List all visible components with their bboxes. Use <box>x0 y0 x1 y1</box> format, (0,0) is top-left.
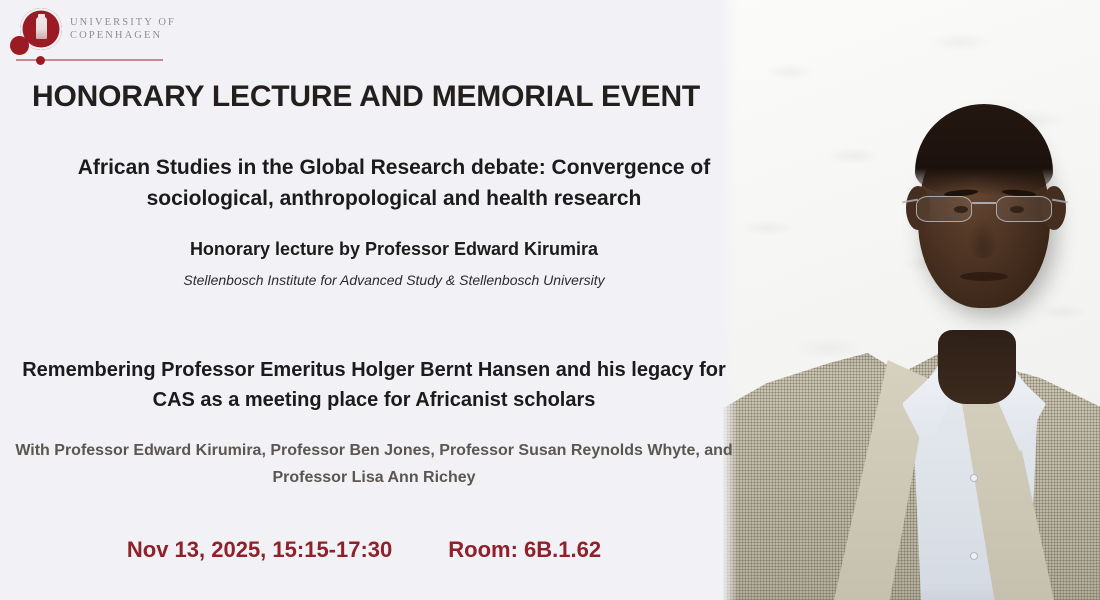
neck <box>938 330 1016 404</box>
poster-content: HONORARY LECTURE AND MEMORIAL EVENT Afri… <box>0 0 722 600</box>
glasses-temple-right <box>1052 199 1068 203</box>
eyeglasses-icon <box>904 192 1066 226</box>
shirt-button <box>970 474 978 482</box>
photo-edge-fade <box>722 0 738 600</box>
glasses-bridge <box>972 202 996 204</box>
shirt-button <box>970 552 978 560</box>
page-title: HONORARY LECTURE AND MEMORIAL EVENT <box>32 80 722 114</box>
speaker-affiliation: Stellenbosch Institute for Advanced Stud… <box>14 272 774 288</box>
lecture-speaker: Honorary lecture by Professor Edward Kir… <box>14 239 774 260</box>
participants-list: With Professor Edward Kirumira, Professo… <box>14 437 734 491</box>
memorial-heading: Remembering Professor Emeritus Holger Be… <box>14 355 734 415</box>
event-poster: UNIVERSITY OF COPENHAGEN HONORARY LECTUR… <box>0 0 1100 600</box>
speaker-portrait <box>722 0 1100 600</box>
event-details: Nov 13, 2025, 15:15-17:30Room: 6B.1.62 <box>14 537 714 563</box>
mouth <box>960 272 1008 281</box>
lens-left <box>916 196 972 222</box>
lens-right <box>996 196 1052 222</box>
event-room: Room: 6B.1.62 <box>448 537 601 562</box>
lecture-subtitle: African Studies in the Global Research d… <box>14 152 774 214</box>
event-date: Nov 13, 2025, 15:15-17:30 <box>127 537 392 562</box>
